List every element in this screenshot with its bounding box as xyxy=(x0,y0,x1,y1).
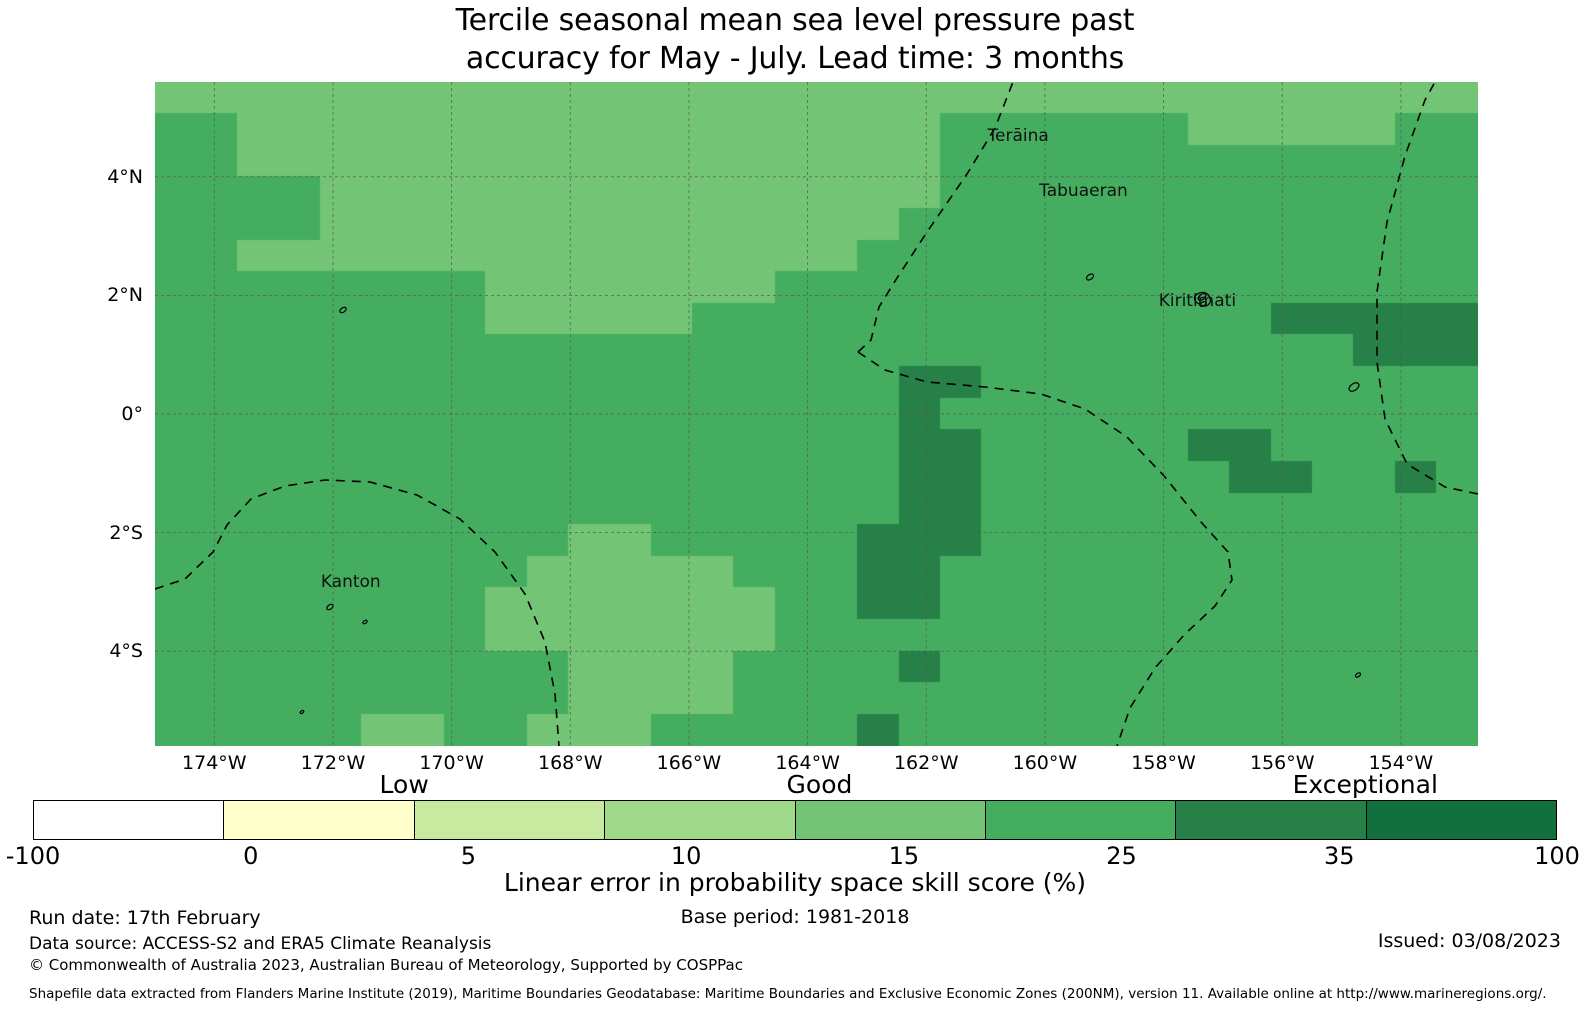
colorbar-segment-4 xyxy=(796,801,986,839)
issued-date-text: Issued: 03/08/2023 xyxy=(1378,930,1561,952)
lat-tick-3: 2°S xyxy=(109,522,143,544)
colorbar-segment-5 xyxy=(986,801,1176,839)
colorbar xyxy=(33,800,1557,840)
colorbar-tick-5: 25 xyxy=(1106,842,1137,870)
colorbar-segment-1 xyxy=(224,801,414,839)
skill-band-captions: LowGoodExceptional xyxy=(0,770,1590,802)
band-caption-exceptional: Exceptional xyxy=(1293,770,1438,799)
base-period-text: Base period: 1981-2018 xyxy=(0,906,1590,928)
title-line-2: accuracy for May - July. Lead time: 3 mo… xyxy=(0,40,1590,78)
lat-tick-4: 4°S xyxy=(109,640,143,662)
colorbar-segment-7 xyxy=(1367,801,1556,839)
colorbar-segment-6 xyxy=(1176,801,1366,839)
band-caption-good: Good xyxy=(787,770,853,799)
data-source-text: Data source: ACCESS-S2 and ERA5 Climate … xyxy=(29,933,789,955)
colorbar-segment-0 xyxy=(34,801,224,839)
colorbar-tick-2: 5 xyxy=(461,842,476,870)
lat-tick-2: 0° xyxy=(121,403,143,425)
map-overlay-vectors xyxy=(155,82,1478,746)
colorbar-axis-title: Linear error in probability space skill … xyxy=(0,868,1590,897)
lat-tick-1: 2°N xyxy=(107,284,143,306)
colorbar-tick-4: 15 xyxy=(889,842,920,870)
shapefile-attribution-text: Shapefile data extracted from Flanders M… xyxy=(29,985,1547,1003)
colorbar-tick-3: 10 xyxy=(671,842,702,870)
title-line-1: Tercile seasonal mean sea level pressure… xyxy=(0,2,1590,40)
island-label-kanton: Kanton xyxy=(321,572,381,592)
colorbar-segment-3 xyxy=(605,801,795,839)
band-caption-low: Low xyxy=(380,770,429,799)
colorbar-tick-1: 0 xyxy=(243,842,258,870)
page-title: Tercile seasonal mean sea level pressure… xyxy=(0,2,1590,78)
colorbar-tick-labels: -1000510152535100 xyxy=(0,842,1590,868)
colorbar-tick-0: -100 xyxy=(6,842,60,870)
island-label-kiritimati: Kiritimati xyxy=(1159,291,1236,311)
colorbar-tick-7: 100 xyxy=(1534,842,1580,870)
map-plot-area: TerāinaTabuaeranKiritimatiKanton xyxy=(155,82,1478,746)
copyright-text: © Commonwealth of Australia 2023, Austra… xyxy=(29,955,789,975)
colorbar-wrapper xyxy=(33,800,1557,840)
island-label-terina: Terāina xyxy=(988,126,1049,146)
colorbar-tick-6: 35 xyxy=(1324,842,1355,870)
lat-tick-0: 4°N xyxy=(107,166,143,188)
island-label-tabuaeran: Tabuaeran xyxy=(1039,181,1128,201)
colorbar-segment-2 xyxy=(415,801,605,839)
